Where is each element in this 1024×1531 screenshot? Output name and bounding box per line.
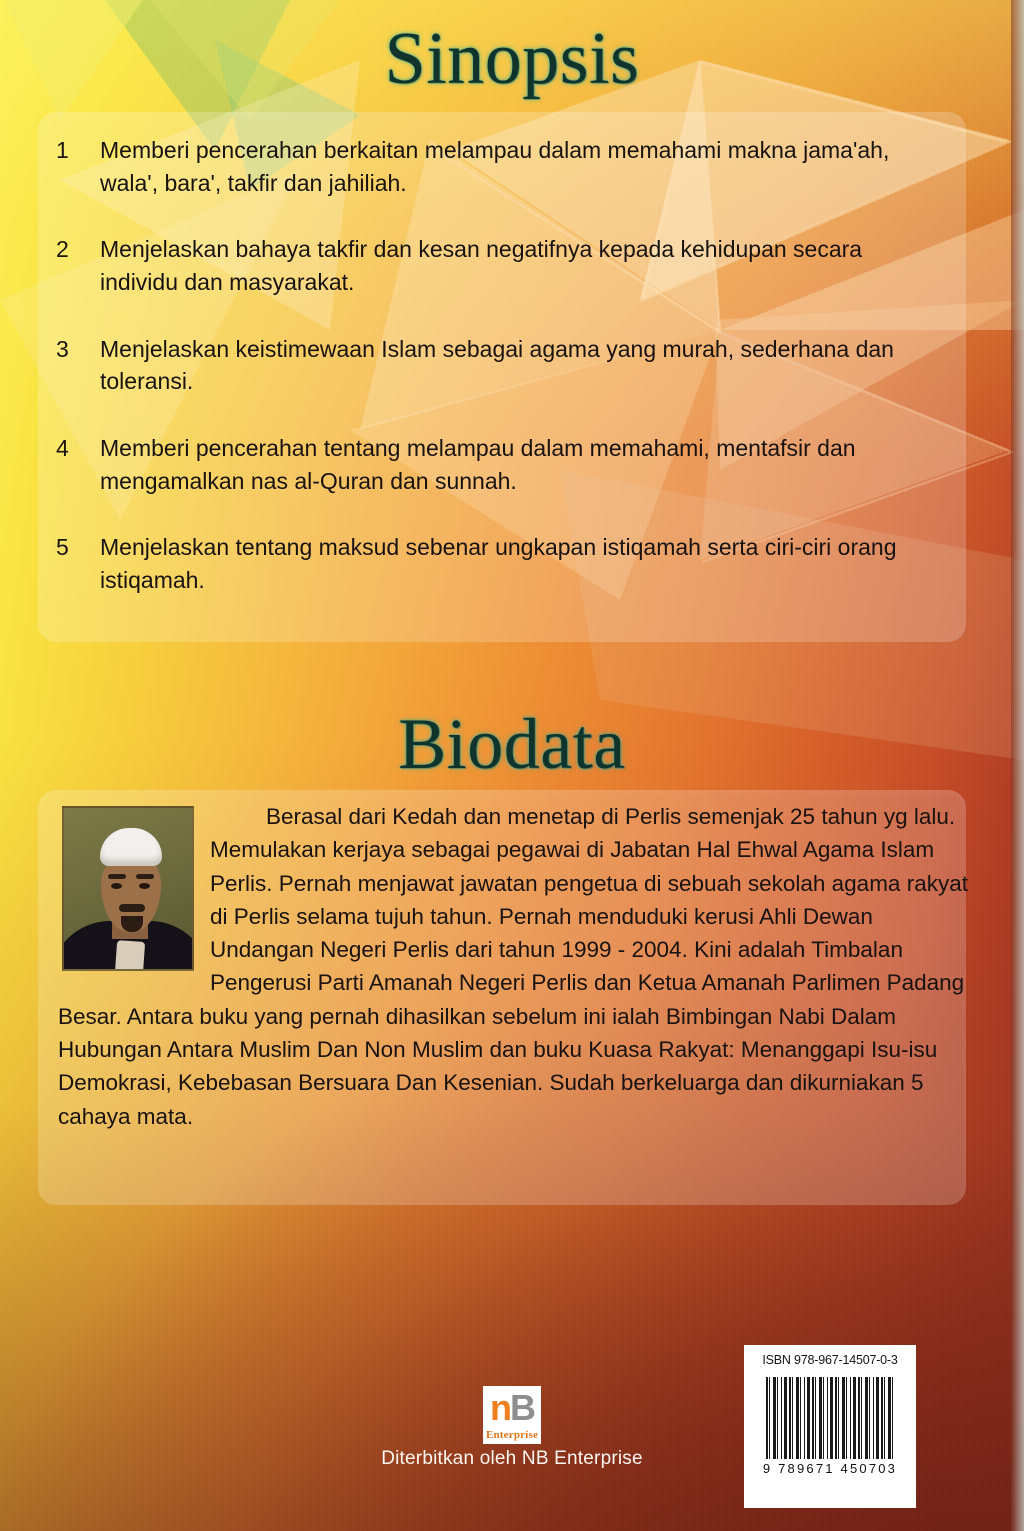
author-photo <box>62 806 194 971</box>
synopsis-list: 1 Memberi pencerahan berkaitan melampau … <box>56 134 956 597</box>
synopsis-item-text: Memberi pencerahan berkaitan melampau da… <box>100 134 945 199</box>
list-item: 5 Menjelaskan tentang maksud sebenar ung… <box>56 531 956 596</box>
synopsis-item-text: Menjelaskan tentang maksud sebenar ungka… <box>100 531 945 596</box>
book-spine-edge <box>1011 0 1024 1531</box>
biodata-heading: Biodata <box>0 708 1024 780</box>
isbn-number: ISBN 978-967-14507-0-3 <box>750 1353 910 1367</box>
synopsis-item-number: 2 <box>56 233 100 266</box>
barcode-icon <box>766 1377 894 1459</box>
list-item: 1 Memberi pencerahan berkaitan melampau … <box>56 134 956 199</box>
portrait-collar-shape <box>115 940 145 971</box>
biodata-body: Berasal dari Kedah dan menetap di Perlis… <box>58 800 968 1133</box>
synopsis-item-number: 1 <box>56 134 100 167</box>
portrait-eye-right <box>139 883 150 889</box>
list-item: 3 Menjelaskan keistimewaan Islam sebagai… <box>56 333 956 398</box>
list-item: 4 Memberi pencerahan tentang melampau da… <box>56 432 956 497</box>
nb-enterprise-logo: nB Enterprise <box>483 1386 541 1444</box>
list-item: 2 Menjelaskan bahaya takfir dan kesan ne… <box>56 233 956 298</box>
portrait-moustache <box>119 904 145 912</box>
sinopsis-heading: Sinopsis <box>0 22 1024 96</box>
synopsis-item-text: Menjelaskan keistimewaan Islam sebagai a… <box>100 333 945 398</box>
nb-logo-letter-n: n <box>490 1387 510 1428</box>
isbn-barcode-block: ISBN 978-967-14507-0-3 9 789671 450703 <box>744 1345 916 1508</box>
synopsis-item-number: 3 <box>56 333 100 366</box>
biodata-text: Berasal dari Kedah dan menetap di Perlis… <box>58 800 968 1133</box>
synopsis-item-number: 5 <box>56 531 100 564</box>
portrait-cap-shape <box>100 828 162 866</box>
portrait-eye-left <box>111 883 122 889</box>
synopsis-item-text: Menjelaskan bahaya takfir dan kesan nega… <box>100 233 945 298</box>
portrait-eyebrow-right <box>136 874 154 879</box>
book-back-cover: Sinopsis 1 Memberi pencerahan berkaitan … <box>0 0 1024 1531</box>
nb-logo-letter-b: B <box>510 1387 534 1428</box>
synopsis-item-text: Memberi pencerahan tentang melampau dala… <box>100 432 945 497</box>
synopsis-item-number: 4 <box>56 432 100 465</box>
barcode-digits: 9 789671 450703 <box>750 1461 910 1476</box>
nb-logo-subtext: Enterprise <box>483 1429 541 1441</box>
portrait-eyebrow-left <box>108 874 126 879</box>
nb-logo-letters: nB <box>483 1391 541 1425</box>
